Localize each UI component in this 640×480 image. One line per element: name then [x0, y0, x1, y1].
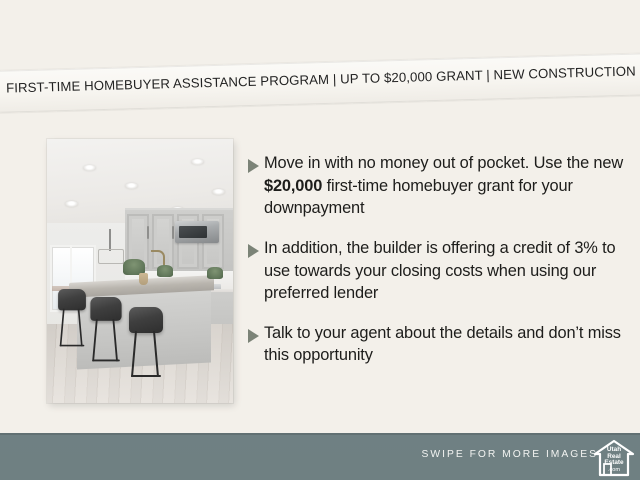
bullet-list: Move in with no money out of pocket. Use…	[248, 152, 630, 384]
logo-line-3: Estate	[592, 460, 636, 467]
slide-canvas: FIRST-TIME HOMEBUYER ASSISTANCE PROGRAM …	[0, 0, 640, 480]
list-item: Talk to your agent about the details and…	[248, 322, 630, 367]
triangle-bullet-icon	[248, 159, 259, 173]
bullet-text: Talk to your agent about the details and…	[264, 322, 630, 367]
triangle-bullet-icon	[248, 329, 259, 343]
logo-line-4: .com	[592, 467, 636, 474]
photo-pendant-cord	[109, 229, 111, 251]
bullet-text-pre: In addition, the builder is offering a c…	[264, 239, 616, 302]
photo-recessed-light	[65, 201, 78, 207]
photo-recessed-light	[83, 165, 96, 171]
bullet-text-pre: Talk to your agent about the details and…	[264, 324, 621, 365]
list-item: In addition, the builder is offering a c…	[248, 237, 630, 305]
kitchen-photo-content	[47, 139, 233, 403]
utah-real-estate-logo: Utah Real Estate .com	[592, 438, 636, 478]
bullet-text-pre: Move in with no money out of pocket. Use…	[264, 154, 623, 172]
photo-plant	[207, 267, 223, 279]
bullet-text-bold: $20,000	[264, 177, 322, 195]
kitchen-photo	[47, 139, 233, 403]
photo-recessed-light	[125, 183, 138, 189]
photo-plant	[157, 265, 173, 277]
photo-microwave	[175, 221, 219, 243]
photo-recessed-light	[212, 189, 225, 195]
logo-wordmark: Utah Real Estate .com	[592, 447, 636, 473]
list-item: Move in with no money out of pocket. Use…	[248, 152, 630, 220]
photo-vase	[139, 273, 148, 285]
footer-bar: SWIPE FOR MORE IMAGES Utah Real Estate .…	[0, 433, 640, 480]
bullet-text: Move in with no money out of pocket. Use…	[264, 152, 630, 220]
photo-recessed-light	[191, 159, 204, 165]
photo-pendant-light	[98, 249, 124, 264]
bullet-text: In addition, the builder is offering a c…	[264, 237, 630, 305]
triangle-bullet-icon	[248, 244, 259, 258]
swipe-label: SWIPE FOR MORE IMAGES	[422, 449, 598, 460]
